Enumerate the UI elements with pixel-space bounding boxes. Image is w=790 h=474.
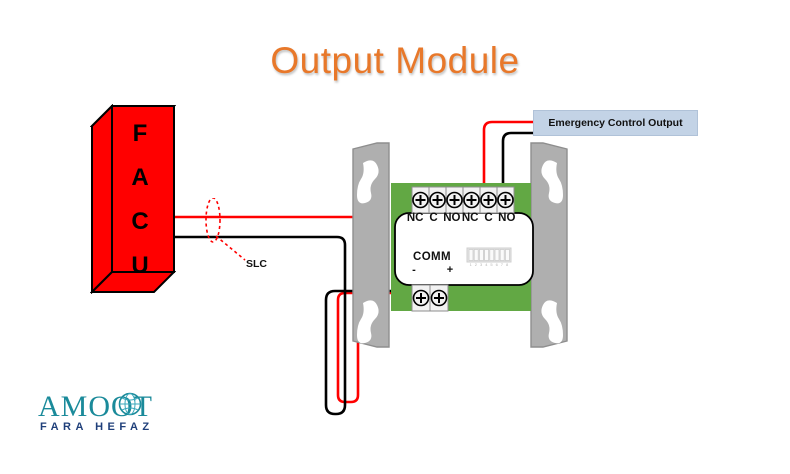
comm-sign-positive: + <box>438 264 462 276</box>
bracket-right <box>531 143 567 347</box>
facu-letter-f: F <box>133 122 148 146</box>
terminal-labels: NC C NO NC C NO <box>406 212 516 224</box>
terminal-label-5: NO <box>498 212 516 224</box>
slc-ellipse-icon <box>206 198 220 242</box>
slide-canvas: Output Module F A C U <box>0 0 790 474</box>
emergency-control-output-label[interactable]: Emergency Control Output <box>533 110 698 136</box>
terminal-label-2: NO <box>443 212 461 224</box>
bracket-left <box>353 143 389 347</box>
terminal-block-top[interactable] <box>412 187 514 213</box>
logo-tagline: FARA HEFAZ <box>40 421 196 433</box>
brand-logo: AMOOT FARA HEFAZ <box>38 390 198 442</box>
terminal-label-3: NC <box>461 212 479 224</box>
terminal-block-comm[interactable] <box>412 285 448 311</box>
emergency-control-output-text: Emergency Control Output <box>548 117 682 129</box>
facu-letter-c: C <box>131 210 148 234</box>
facu-panel[interactable]: F A C U <box>90 104 176 294</box>
facu-label-stack: F A C U <box>120 122 160 278</box>
slc-marker-graphic <box>195 198 315 288</box>
slc-label: SLC <box>246 258 267 270</box>
terminal-label-1: C <box>424 212 442 224</box>
facu-letter-a: A <box>131 166 148 190</box>
facu-letter-u: U <box>131 254 148 278</box>
terminal-label-4: C <box>479 212 497 224</box>
comm-polarity-signs: - + <box>402 264 462 276</box>
comm-sign-negative: - <box>402 264 426 276</box>
globe-icon <box>117 391 143 417</box>
comm-label: COMM <box>402 251 462 263</box>
terminal-label-0: NC <box>406 212 424 224</box>
slc-leader-line <box>216 236 245 260</box>
